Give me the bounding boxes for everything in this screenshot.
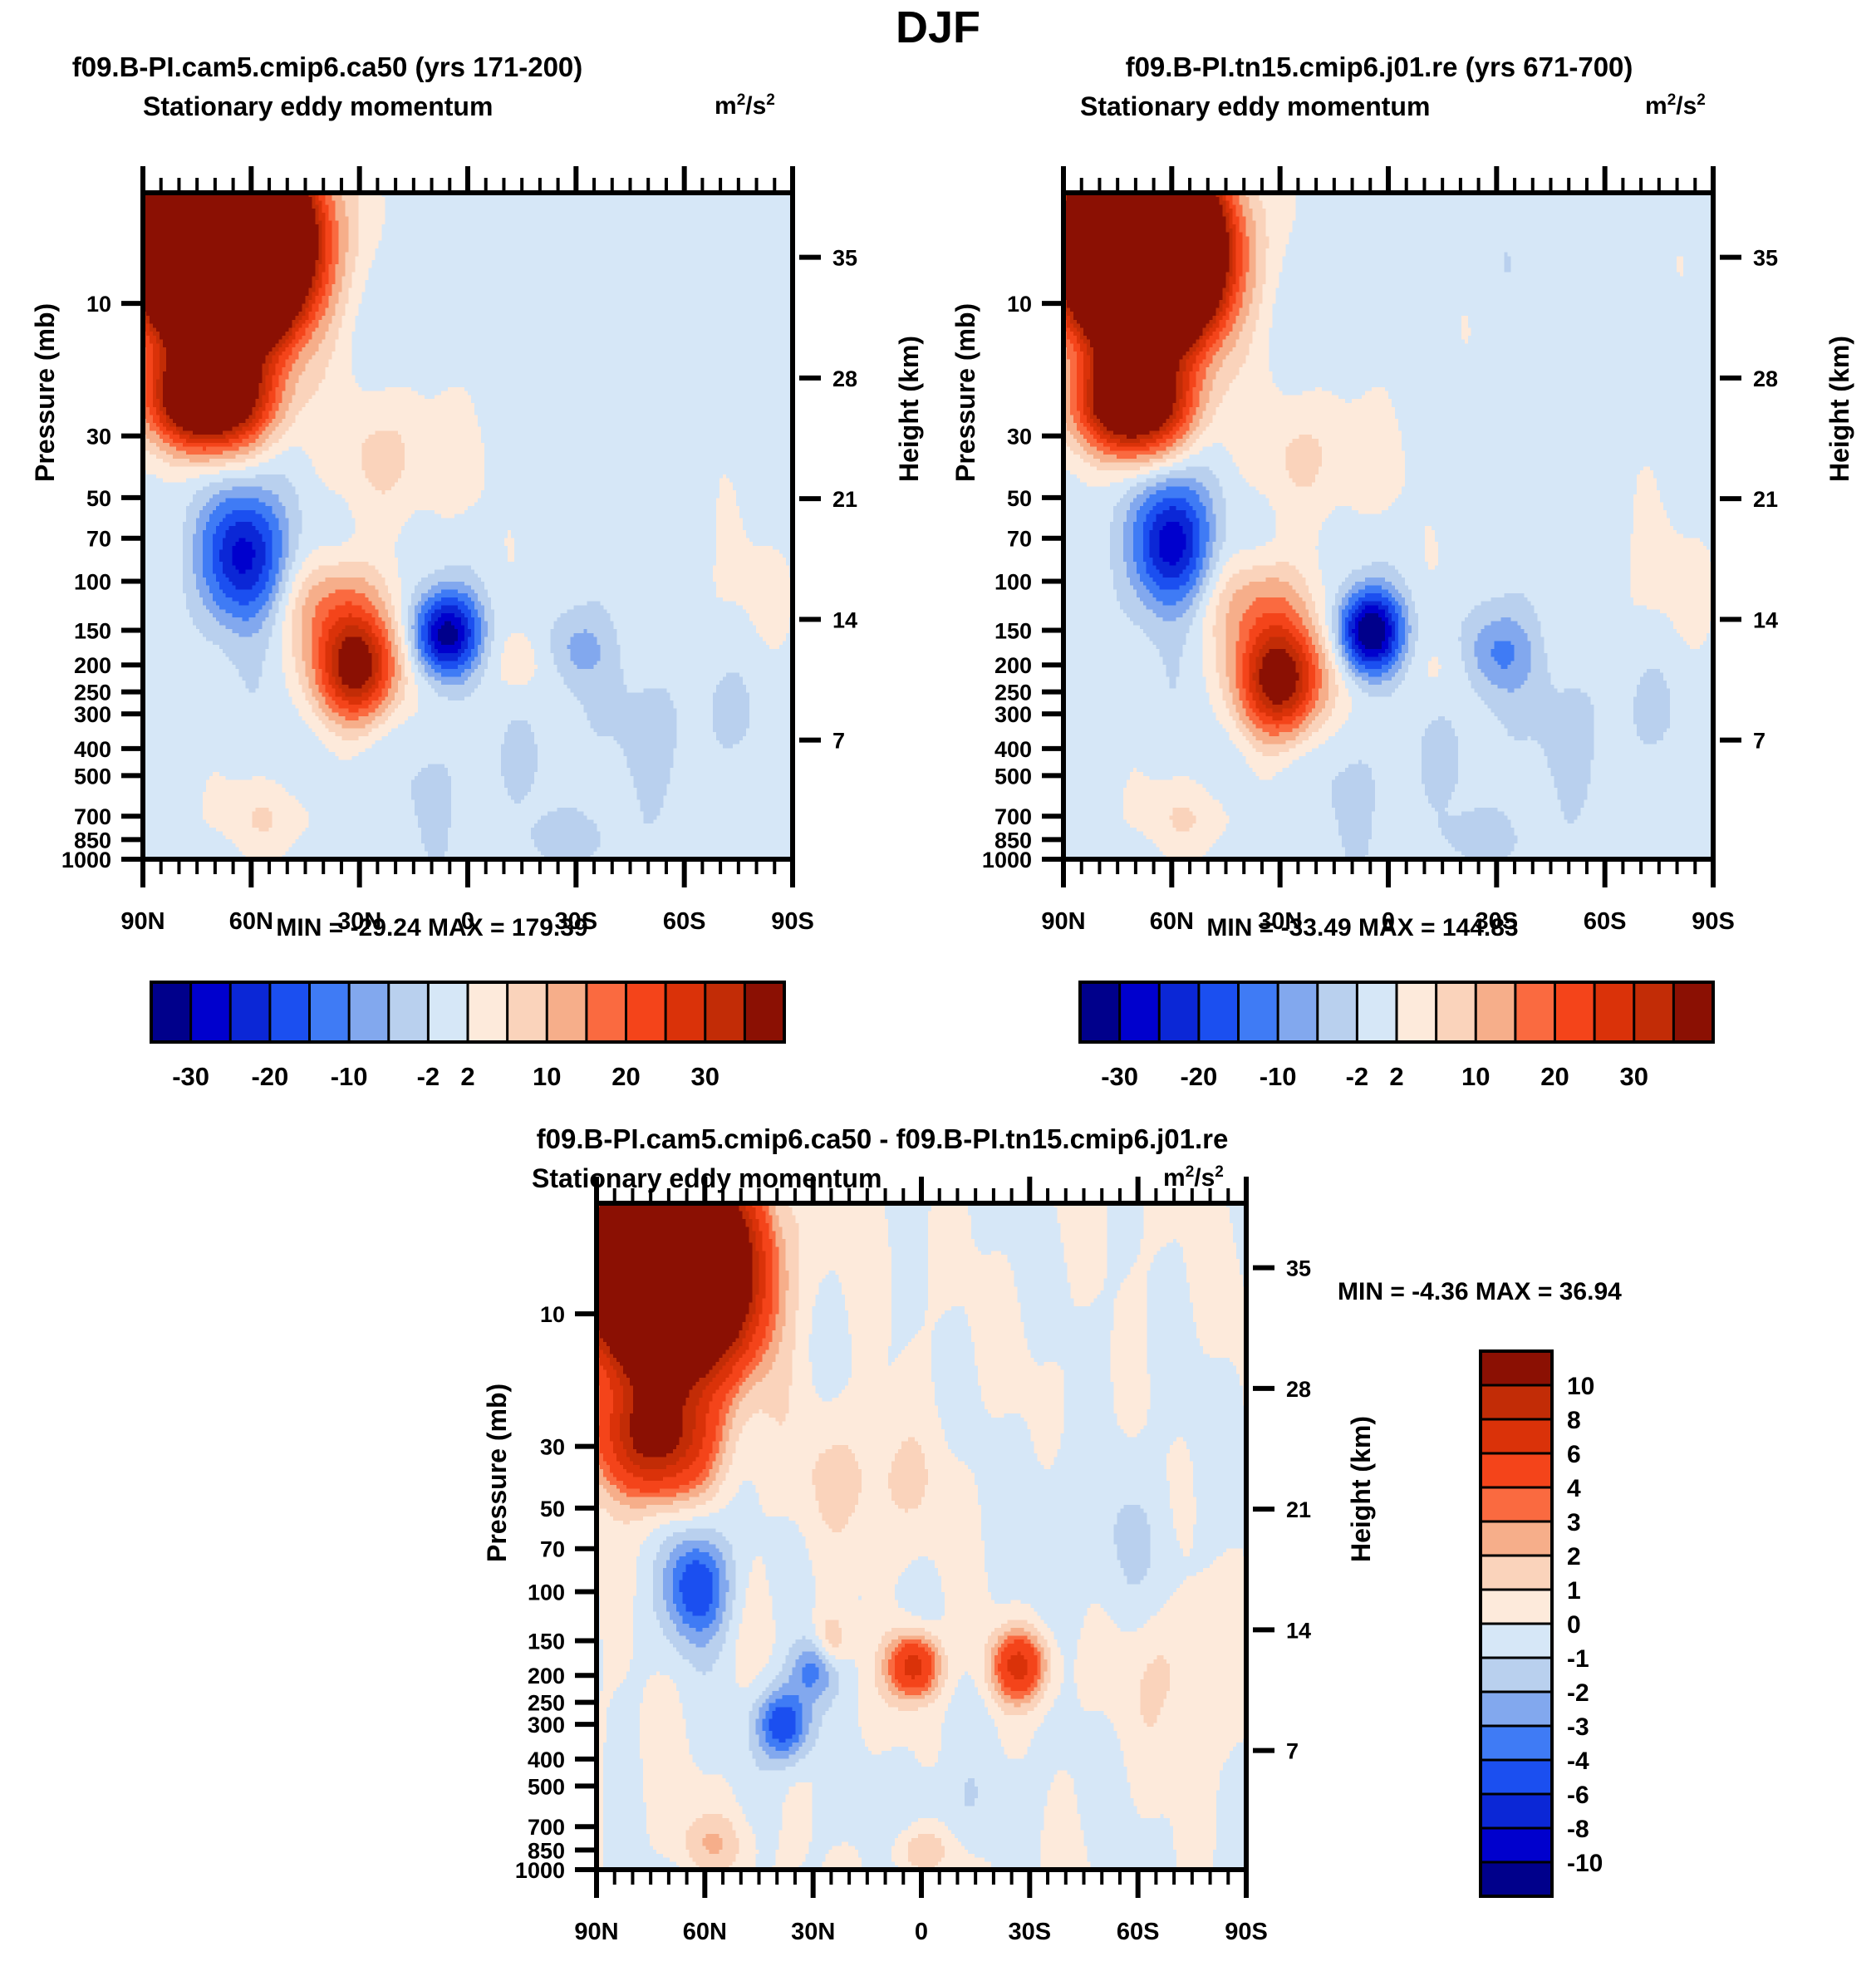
colorbar-swatch <box>1481 1590 1552 1624</box>
y2tick-label-left: 35 <box>832 246 857 271</box>
colorbar-swatch <box>428 982 468 1042</box>
colorbar-tick-label: -10 <box>331 1062 368 1091</box>
colorbar-swatch <box>1476 982 1515 1042</box>
colorbar-tick-label: 10 <box>533 1062 561 1091</box>
xtick-label-diff: 30S <box>1009 1919 1052 1945</box>
colorbar-tick-label: -30 <box>172 1062 209 1091</box>
colorbar-swatch <box>1481 1556 1552 1590</box>
ytick-label-diff: 700 <box>528 1815 565 1840</box>
ytick-label-left: 700 <box>74 804 111 829</box>
colorbar-swatch <box>1436 982 1476 1042</box>
colorbar-swatch <box>1594 982 1634 1042</box>
ytick-label-diff: 500 <box>528 1774 565 1799</box>
colorbar-swatch <box>468 982 508 1042</box>
colorbar-swatch <box>1481 1692 1552 1726</box>
colorbar-swatch <box>626 982 666 1042</box>
colorbar-panel-right: -30-20-10-22102030 <box>1080 982 1713 1091</box>
y2tick-label-diff: 7 <box>1286 1739 1299 1764</box>
colorbar-swatch <box>270 982 310 1042</box>
ytick-label-right: 150 <box>994 618 1032 643</box>
colorbar-swatch <box>665 982 705 1042</box>
y2tick-label-right: 28 <box>1753 366 1778 391</box>
y2tick-label-left: 21 <box>832 487 857 512</box>
ytick-label-left: 70 <box>86 527 111 552</box>
colorbar-swatch <box>1481 1828 1552 1862</box>
xtick-label-right: 30N <box>1258 908 1302 935</box>
ytick-label-left: 30 <box>86 425 111 450</box>
colorbar-swatch <box>1080 982 1120 1042</box>
colorbar-tick-label: -10 <box>1260 1062 1297 1091</box>
colorbar-swatch <box>1481 1658 1552 1692</box>
colorbar-panel-diff: 108643210-1-2-3-4-6-8-10 <box>1481 1351 1603 1896</box>
y2tick-label-left: 7 <box>832 729 845 754</box>
colorbar-tick-label: -2 <box>417 1062 440 1091</box>
xtick-label-left: 0 <box>461 908 474 935</box>
colorbar-swatch <box>1397 982 1436 1042</box>
ytick-label-left: 300 <box>74 702 111 727</box>
colorbar-tick-label: 30 <box>691 1062 719 1091</box>
xtick-label-right: 90N <box>1041 908 1085 935</box>
ytick-label-left: 150 <box>74 618 111 643</box>
figure-canvas: 90N60N30N030S60S90S103050701001502002503… <box>0 0 1876 1981</box>
colorbar-tick-label: 3 <box>1567 1509 1581 1536</box>
y2tick-label-right: 7 <box>1753 729 1766 754</box>
colorbar-swatch <box>1239 982 1279 1042</box>
ytick-label-diff: 100 <box>528 1580 565 1605</box>
y2tick-label-left: 28 <box>832 366 857 391</box>
xtick-label-diff: 30N <box>791 1919 835 1945</box>
colorbar-tick-label: 8 <box>1567 1407 1581 1434</box>
colorbar-swatch <box>1481 1521 1552 1556</box>
y2tick-label-right: 35 <box>1753 246 1778 271</box>
colorbar-tick-label: -1 <box>1567 1645 1589 1673</box>
ytick-label-right: 70 <box>1007 527 1032 552</box>
colorbar-tick-label: -20 <box>1180 1062 1217 1091</box>
colorbar-swatch <box>1481 1419 1552 1453</box>
xtick-label-right: 90S <box>1692 908 1735 935</box>
xtick-label-right: 0 <box>1382 908 1395 935</box>
xtick-label-left: 90S <box>771 908 814 935</box>
colorbar-tick-label: -20 <box>251 1062 288 1091</box>
xtick-label-diff: 0 <box>915 1919 928 1945</box>
colorbar-swatch <box>1634 982 1674 1042</box>
colorbar-swatch <box>1673 982 1713 1042</box>
colorbar-swatch <box>1481 1862 1552 1896</box>
colorbar-swatch <box>1120 982 1160 1042</box>
colorbar-swatch <box>744 982 784 1042</box>
colorbar-swatch <box>1481 1351 1552 1385</box>
colorbar-tick-label: -10 <box>1567 1850 1603 1877</box>
ytick-label-right: 50 <box>1007 486 1032 511</box>
contour-field-panel-diff <box>597 1203 1247 1870</box>
colorbar-swatch <box>1318 982 1358 1042</box>
colorbar-swatch <box>508 982 548 1042</box>
ytick-label-diff: 200 <box>528 1664 565 1689</box>
y2tick-label-diff: 28 <box>1286 1377 1311 1402</box>
ytick-label-left: 200 <box>74 653 111 678</box>
colorbar-tick-label: 30 <box>1620 1062 1648 1091</box>
ytick-label-right: 700 <box>994 804 1032 829</box>
ytick-label-right: 300 <box>994 702 1032 727</box>
ytick-label-right: 200 <box>994 653 1032 678</box>
colorbar-tick-label: 2 <box>1389 1062 1403 1091</box>
ytick-label-left: 400 <box>74 737 111 762</box>
colorbar-swatch <box>230 982 270 1042</box>
colorbar-swatch <box>1357 982 1397 1042</box>
xtick-label-left: 90N <box>120 908 165 935</box>
colorbar-swatch <box>1481 1624 1552 1658</box>
colorbar-tick-label: 4 <box>1567 1475 1581 1502</box>
colorbar-swatch <box>1555 982 1595 1042</box>
ytick-label-right: 500 <box>994 764 1032 789</box>
ytick-label-right: 10 <box>1007 292 1032 317</box>
ytick-label-right: 30 <box>1007 425 1032 450</box>
ytick-label-right: 100 <box>994 570 1032 595</box>
xtick-label-left: 60N <box>229 908 273 935</box>
y2tick-label-diff: 35 <box>1286 1256 1311 1281</box>
colorbar-tick-label: 0 <box>1567 1611 1581 1639</box>
ytick-label-diff: 70 <box>540 1537 565 1562</box>
ytick-label-diff: 50 <box>540 1497 565 1521</box>
colorbar-tick-label: -2 <box>1567 1679 1589 1707</box>
contour-field-panel-left <box>143 193 793 860</box>
colorbar-swatch <box>1481 1794 1552 1828</box>
colorbar-tick-label: -30 <box>1101 1062 1138 1091</box>
colorbar-swatch <box>1481 1453 1552 1487</box>
xtick-label-diff: 60N <box>683 1919 727 1945</box>
xtick-label-diff: 60S <box>1117 1919 1160 1945</box>
ytick-label-left: 10 <box>86 292 111 317</box>
ytick-label-diff: 150 <box>528 1629 565 1654</box>
colorbar-tick-label: 2 <box>460 1062 474 1091</box>
ytick-label-left: 100 <box>74 570 111 595</box>
colorbar-tick-label: 1 <box>1567 1577 1581 1605</box>
xtick-label-left: 30N <box>337 908 381 935</box>
colorbar-swatch <box>1515 982 1555 1042</box>
xtick-label-left: 30S <box>555 908 598 935</box>
colorbar-panel-left: -30-20-10-22102030 <box>151 982 784 1091</box>
y2tick-label-diff: 14 <box>1286 1618 1311 1643</box>
y2tick-label-diff: 21 <box>1286 1497 1311 1522</box>
y2tick-label-left: 14 <box>832 607 857 632</box>
contour-field-panel-right <box>1063 193 1714 860</box>
colorbar-tick-label: 20 <box>1540 1062 1569 1091</box>
ytick-label-left: 50 <box>86 486 111 511</box>
ytick-label-left: 500 <box>74 764 111 789</box>
ytick-label-right: 400 <box>994 737 1032 762</box>
xtick-label-right: 60S <box>1584 908 1627 935</box>
colorbar-tick-label: -4 <box>1567 1748 1589 1775</box>
colorbar-tick-label: -3 <box>1567 1713 1589 1741</box>
colorbar-tick-label: -8 <box>1567 1816 1589 1843</box>
y2tick-label-right: 21 <box>1753 487 1778 512</box>
colorbar-tick-label: -6 <box>1567 1782 1589 1809</box>
xtick-label-right: 30S <box>1476 908 1519 935</box>
colorbar-swatch <box>547 982 587 1042</box>
colorbar-tick-label: 2 <box>1567 1543 1581 1571</box>
colorbar-swatch <box>191 982 231 1042</box>
xtick-label-diff: 90N <box>574 1919 618 1945</box>
xtick-label-left: 60S <box>663 908 706 935</box>
y2tick-label-right: 14 <box>1753 607 1778 632</box>
colorbar-swatch <box>1481 1385 1552 1419</box>
colorbar-tick-label: 20 <box>611 1062 640 1091</box>
colorbar-swatch <box>705 982 745 1042</box>
colorbar-swatch <box>1481 1760 1552 1794</box>
ytick-label-diff: 1000 <box>515 1858 565 1883</box>
colorbar-swatch <box>587 982 626 1042</box>
ytick-label-diff: 10 <box>540 1302 565 1327</box>
colorbar-swatch <box>310 982 350 1042</box>
ytick-label-diff: 300 <box>528 1713 565 1738</box>
colorbar-tick-label: 10 <box>1461 1062 1490 1091</box>
colorbar-tick-label: -2 <box>1346 1062 1369 1091</box>
ytick-label-right: 1000 <box>982 848 1032 873</box>
colorbar-swatch <box>1481 1726 1552 1760</box>
colorbar-swatch <box>1159 982 1199 1042</box>
colorbar-swatch <box>1199 982 1239 1042</box>
colorbar-swatch <box>1278 982 1318 1042</box>
colorbar-swatch <box>349 982 389 1042</box>
colorbar-swatch <box>1481 1487 1552 1521</box>
colorbar-swatch <box>389 982 429 1042</box>
ytick-label-diff: 30 <box>540 1435 565 1460</box>
ytick-label-diff: 400 <box>528 1748 565 1772</box>
ytick-label-left: 1000 <box>61 848 111 873</box>
colorbar-tick-label: 10 <box>1567 1373 1594 1400</box>
colorbar-swatch <box>151 982 191 1042</box>
colorbar-tick-label: 6 <box>1567 1441 1581 1468</box>
xtick-label-diff: 90S <box>1225 1919 1268 1945</box>
xtick-label-right: 60N <box>1150 908 1194 935</box>
